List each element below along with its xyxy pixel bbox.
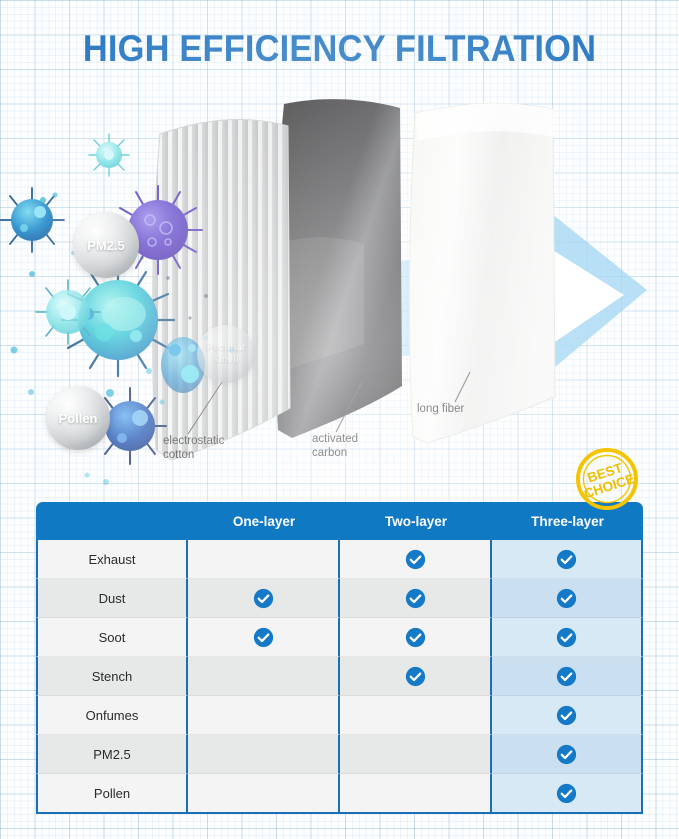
- caption-line-2: carbon: [312, 446, 358, 460]
- table-header-two-layer: Two-layer: [340, 502, 492, 540]
- check-icon: [556, 744, 577, 765]
- caption-long-fiber: long fiber: [417, 402, 464, 416]
- table-row: Onfumes: [36, 696, 643, 735]
- feature-label: Pollen: [94, 786, 130, 801]
- empty-cell: [405, 742, 426, 763]
- caption-electrostatic-cotton: electrostatic cotton: [163, 434, 224, 462]
- empty-cell: [253, 703, 274, 724]
- filter-layers-diagram: PM2.5 Pollen Peculiar smell electrostati…: [0, 82, 679, 494]
- table-cell-empty: [188, 774, 340, 814]
- table-row: Pollen: [36, 774, 643, 814]
- caption-activated-carbon: activated carbon: [312, 432, 358, 460]
- page-title: HIGH EFFICIENCY FILTRATION: [24, 28, 655, 70]
- feature-label: Dust: [99, 591, 126, 606]
- particle-pm25: PM2.5: [73, 212, 139, 278]
- table-cell-checked: [188, 618, 340, 657]
- table-row: Dust: [36, 579, 643, 618]
- check-icon: [405, 588, 426, 609]
- best-choice-badge: BEST CHOICE: [576, 448, 638, 510]
- table-cell-feature-label: Stench: [36, 657, 188, 696]
- table-cell-feature-label: Soot: [36, 618, 188, 657]
- table-cell-checked: [340, 579, 492, 618]
- feature-label: Stench: [92, 669, 132, 684]
- table-header-one-layer: One-layer: [188, 502, 340, 540]
- table-cell-empty: [340, 696, 492, 735]
- table-row: Exhaust: [36, 540, 643, 579]
- table-cell-empty: [340, 774, 492, 814]
- particle-pollen: Pollen: [46, 386, 110, 450]
- check-icon: [556, 627, 577, 648]
- table-cell-empty: [188, 696, 340, 735]
- check-icon: [253, 627, 274, 648]
- feature-label: Soot: [99, 630, 126, 645]
- particle-pollen-label: Pollen: [58, 411, 97, 426]
- table-cell-feature-label: PM2.5: [36, 735, 188, 774]
- check-icon: [405, 666, 426, 687]
- empty-cell: [405, 781, 426, 802]
- table-row: PM2.5: [36, 735, 643, 774]
- table-cell-empty: [188, 735, 340, 774]
- table-header-row: One-layer Two-layer Three-layer: [36, 502, 643, 540]
- check-icon: [556, 549, 577, 570]
- table-cell-checked: [492, 579, 643, 618]
- table-cell-checked: [492, 657, 643, 696]
- table-cell-feature-label: Dust: [36, 579, 188, 618]
- caption-line-2: cotton: [163, 448, 224, 462]
- comparison-table-wrapper: One-layer Two-layer Three-layer ExhaustD…: [36, 502, 643, 811]
- check-icon: [405, 627, 426, 648]
- table-cell-checked: [492, 774, 643, 814]
- table-row: Stench: [36, 657, 643, 696]
- caption-line-1: long fiber: [417, 402, 464, 416]
- empty-cell: [253, 547, 274, 568]
- particle-peculiar-smell: Peculiar smell: [197, 325, 255, 383]
- empty-cell: [405, 703, 426, 724]
- feature-label: Onfumes: [86, 708, 139, 723]
- table-cell-checked: [492, 735, 643, 774]
- table-header-feature: [36, 502, 188, 540]
- caption-line-1: electrostatic: [163, 434, 224, 448]
- table-cell-checked: [492, 696, 643, 735]
- check-icon: [556, 705, 577, 726]
- table-cell-feature-label: Exhaust: [36, 540, 188, 579]
- table-cell-feature-label: Onfumes: [36, 696, 188, 735]
- feature-label: Exhaust: [89, 552, 136, 567]
- comparison-table: One-layer Two-layer Three-layer ExhaustD…: [36, 502, 643, 814]
- table-row: Soot: [36, 618, 643, 657]
- empty-cell: [253, 781, 274, 802]
- table-cell-feature-label: Pollen: [36, 774, 188, 814]
- check-icon: [556, 588, 577, 609]
- table-cell-empty: [340, 735, 492, 774]
- empty-cell: [253, 664, 274, 685]
- check-icon: [556, 666, 577, 687]
- table-cell-checked: [188, 579, 340, 618]
- table-cell-checked: [340, 540, 492, 579]
- table-cell-checked: [340, 657, 492, 696]
- particle-peculiar-smell-label: Peculiar smell: [203, 342, 249, 366]
- table-body: ExhaustDustSootStenchOnfumesPM2.5Pollen: [36, 540, 643, 814]
- table-cell-checked: [492, 618, 643, 657]
- empty-cell: [253, 742, 274, 763]
- table-cell-empty: [188, 540, 340, 579]
- caption-line-1: activated: [312, 432, 358, 446]
- feature-label: PM2.5: [93, 747, 131, 762]
- table-cell-empty: [188, 657, 340, 696]
- table-head: One-layer Two-layer Three-layer: [36, 502, 643, 540]
- table-cell-checked: [340, 618, 492, 657]
- infographic-page: HIGH EFFICIENCY FILTRATION: [0, 0, 679, 839]
- table-cell-checked: [492, 540, 643, 579]
- germ-cyan-small: [89, 134, 129, 176]
- check-icon: [556, 783, 577, 804]
- particle-pm25-label: PM2.5: [87, 238, 125, 253]
- germ-blue-left: [0, 188, 64, 252]
- check-icon: [253, 588, 274, 609]
- check-icon: [405, 549, 426, 570]
